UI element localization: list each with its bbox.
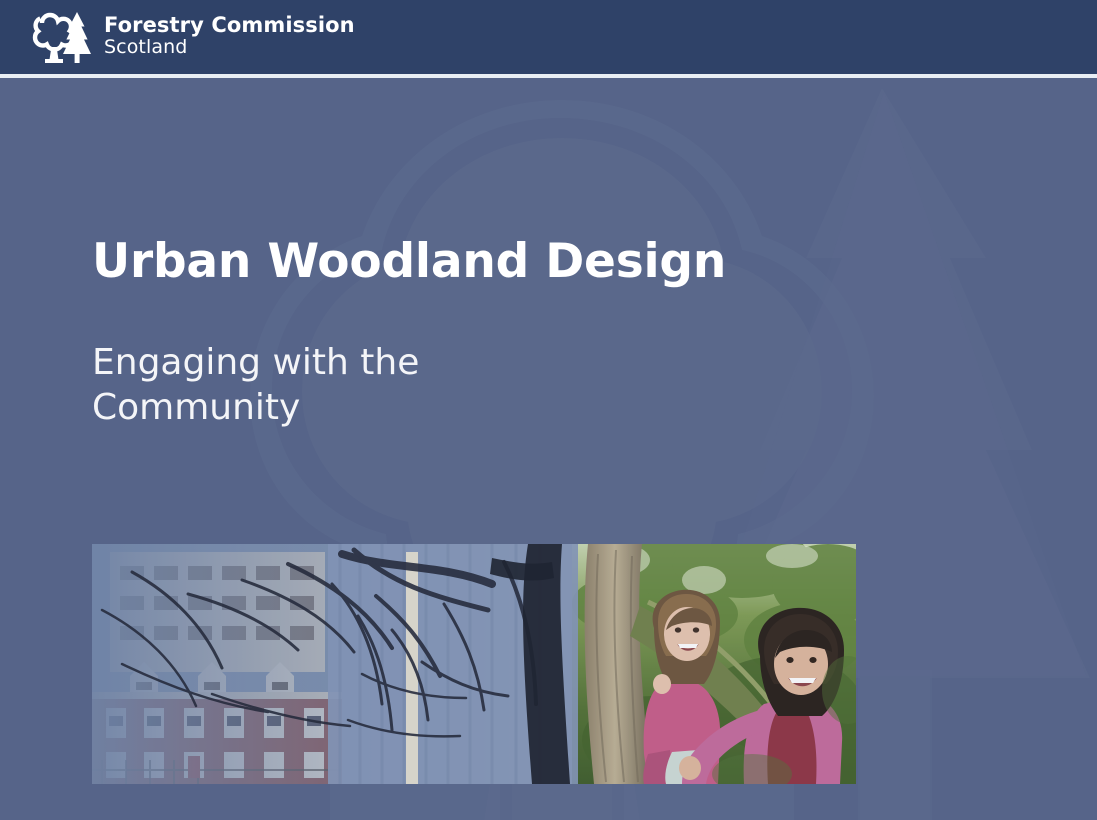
brand-organisation: Forestry Commission <box>104 15 355 36</box>
page-subtitle-line-1: Engaging with the <box>92 340 912 385</box>
brand-region: Scotland <box>104 38 355 57</box>
slide-photo <box>92 544 856 784</box>
brand-lockup: Forestry Commission Scotland <box>22 8 355 66</box>
presentation-slide: Urban Woodland Design Engaging with the … <box>0 0 1097 820</box>
header-divider <box>0 74 1097 78</box>
photo-artwork <box>92 544 856 784</box>
page-subtitle-line-2: Community <box>92 385 912 430</box>
slide-body: Urban Woodland Design Engaging with the … <box>0 78 1097 820</box>
title-block: Urban Woodland Design Engaging with the … <box>92 238 912 430</box>
page-title: Urban Woodland Design <box>92 238 912 285</box>
forestry-commission-tree-logo-icon <box>22 9 94 65</box>
page-subtitle: Engaging with the Community <box>92 285 912 430</box>
brand-text: Forestry Commission Scotland <box>104 15 355 59</box>
